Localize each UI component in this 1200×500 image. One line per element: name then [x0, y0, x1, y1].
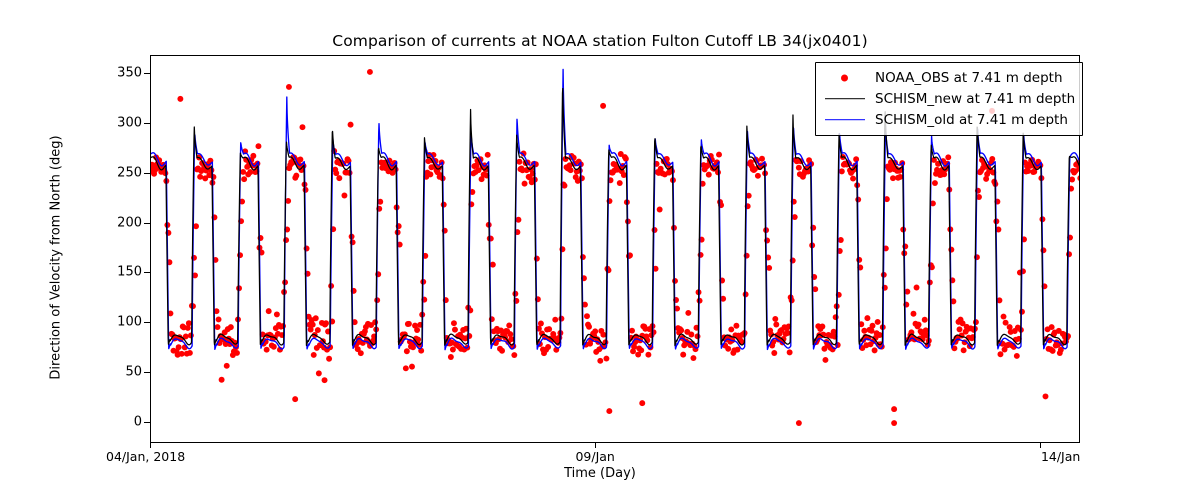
x-tick-label: 04/Jan, 2018 [106, 449, 185, 464]
y-tick-label: 0 [98, 415, 142, 430]
y-tick-label: 250 [98, 165, 142, 180]
legend-marker-line-black-icon [823, 91, 867, 107]
legend-label-schism-new: SCHISM_new at 7.41 m depth [875, 91, 1075, 107]
y-tick-label: 150 [98, 265, 142, 280]
legend-label-schism-old: SCHISM_old at 7.41 m depth [875, 112, 1068, 128]
y-tick-label: 50 [98, 365, 142, 380]
legend-label-obs: NOAA_OBS at 7.41 m depth [875, 70, 1063, 86]
y-tick-mark [144, 223, 150, 224]
x-axis-label: Time (Day) [0, 466, 1200, 481]
y-tick-label: 200 [98, 215, 142, 230]
x-tick-mark [595, 443, 596, 448]
y-tick-mark [144, 322, 150, 323]
x-tick-mark [150, 443, 151, 448]
y-tick-mark [144, 73, 150, 74]
legend-marker-line-blue-icon [823, 112, 867, 128]
y-tick-label: 300 [98, 115, 142, 130]
y-tick-mark [144, 372, 150, 373]
figure-canvas: Comparison of currents at NOAA station F… [0, 0, 1200, 500]
y-tick-mark [144, 123, 150, 124]
y-tick-label: 100 [98, 315, 142, 330]
y-tick-mark [144, 173, 150, 174]
legend-item-schism-old[interactable]: SCHISM_old at 7.41 m depth [823, 109, 1075, 130]
chart-legend[interactable]: NOAA_OBS at 7.41 m depth SCHISM_new at 7… [815, 62, 1083, 136]
y-tick-label: 350 [98, 65, 142, 80]
legend-item-obs[interactable]: NOAA_OBS at 7.41 m depth [823, 67, 1075, 88]
x-tick-label: 14/Jan [1041, 449, 1080, 464]
y-tick-mark [144, 272, 150, 273]
y-tick-mark [144, 422, 150, 423]
y-axis-label: Direction of Velocity from North (deg) [49, 128, 64, 388]
legend-marker-dot-icon [823, 70, 867, 86]
x-tick-mark [1040, 443, 1041, 448]
legend-item-schism-new[interactable]: SCHISM_new at 7.41 m depth [823, 88, 1075, 109]
x-tick-label: 09/Jan [575, 449, 614, 464]
